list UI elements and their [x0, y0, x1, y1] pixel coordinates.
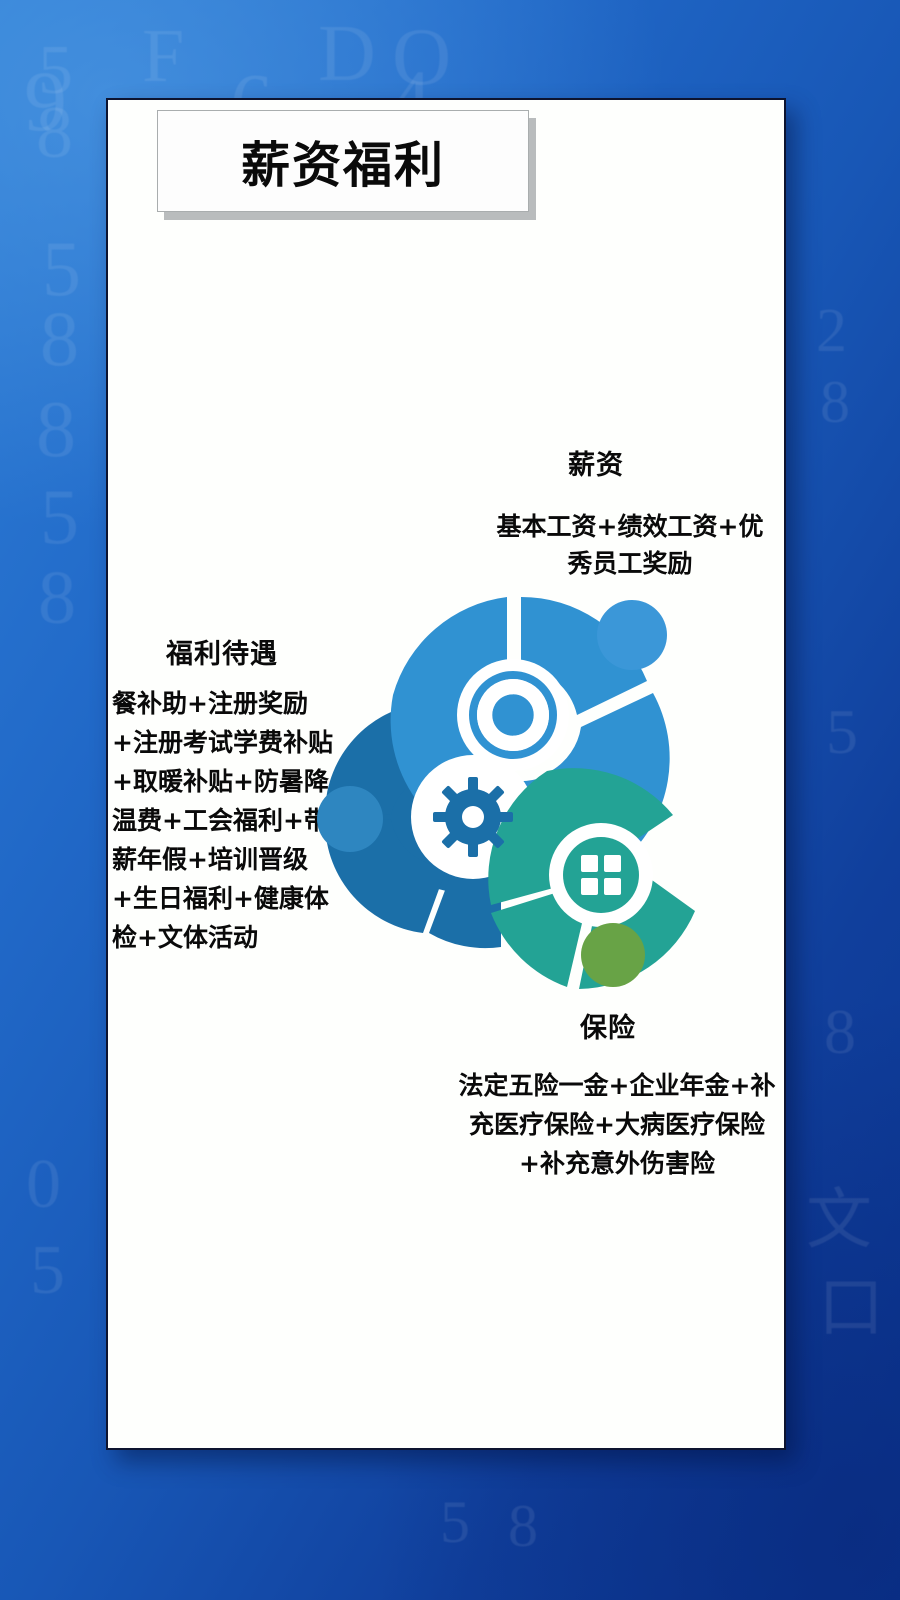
insurance-heading: 保险	[580, 1006, 636, 1045]
title-container: 薪资福利	[157, 110, 529, 212]
gear-icon	[433, 777, 513, 857]
page-title: 薪资福利	[241, 126, 445, 197]
title-box: 薪资福利	[157, 110, 529, 212]
accent-dot-bottom	[581, 923, 645, 987]
salary-heading: 薪资	[568, 443, 624, 482]
accent-dot-top-right	[597, 600, 667, 670]
pinwheel-infographic	[295, 575, 705, 995]
window-icon-inner	[563, 837, 639, 913]
accent-dot-left	[317, 786, 383, 852]
salary-body: 基本工资+绩效工资+优秀员工奖励	[485, 508, 775, 582]
poster: F D O 9 6 4 5 8 5 8 8 5 8 2 8 5 8 文 口 0 …	[0, 0, 900, 1600]
insurance-body: 法定五险一金+企业年金+补充医疗保险+大病医疗保险+补充意外伤害险	[452, 1066, 782, 1183]
welfare-heading: 福利待遇	[166, 632, 278, 671]
